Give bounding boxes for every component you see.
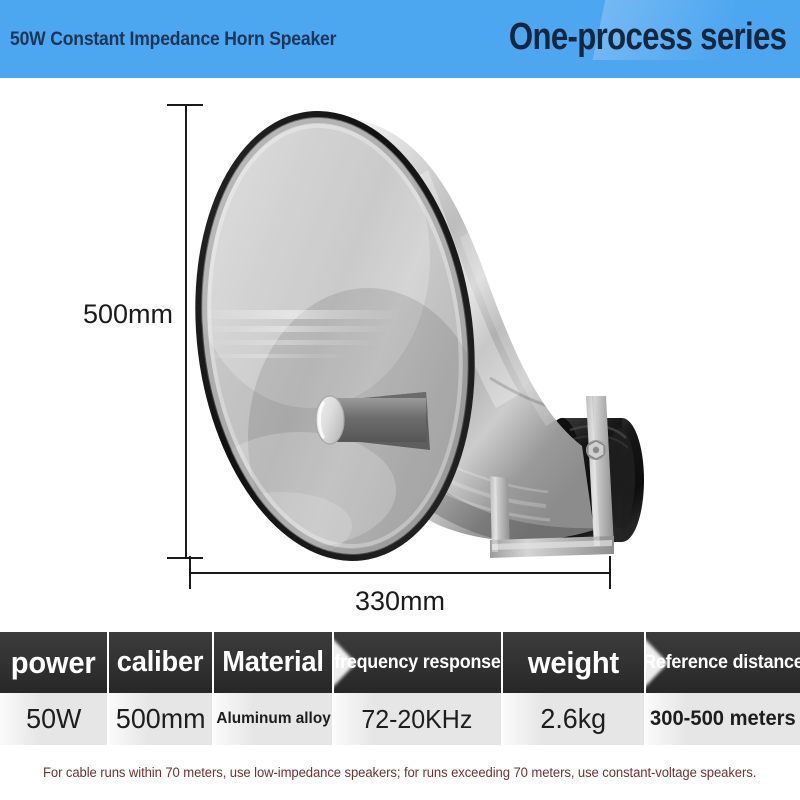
width-dimension-label-wrap: 330mm bbox=[0, 586, 800, 617]
spec-header-label: weight bbox=[528, 645, 619, 681]
specification-table: power 50W caliber 500mm Material Aluminu… bbox=[0, 632, 800, 745]
spec-value-label: 500mm bbox=[116, 703, 206, 735]
spec-header-reference-distance: Reference distance bbox=[646, 632, 800, 693]
spec-header-label: frequency response bbox=[334, 652, 500, 674]
cable-run-advisory-text: For cable runs within 70 meters, use low… bbox=[43, 765, 756, 780]
height-dimension-label: 500mm bbox=[83, 299, 173, 330]
footer-note: For cable runs within 70 meters, use low… bbox=[0, 745, 800, 800]
horn-speaker-illustration bbox=[190, 78, 660, 578]
spec-header-label: caliber bbox=[117, 646, 204, 679]
spec-value-label: 50W bbox=[26, 703, 81, 735]
spec-value-caliber: 500mm bbox=[109, 693, 213, 745]
spec-column-reference-distance: Reference distance 300-500 meters bbox=[646, 632, 800, 745]
series-title: One-process series bbox=[509, 16, 786, 59]
cell-gleam bbox=[503, 693, 543, 745]
spec-header-material: Material bbox=[214, 632, 332, 693]
spec-value-label: Aluminum alloy bbox=[216, 710, 330, 728]
spec-header-caliber: caliber bbox=[109, 632, 213, 693]
product-title: 50W Constant Impedance Horn Speaker bbox=[10, 28, 336, 51]
header-banner: 50W Constant Impedance Horn Speaker One-… bbox=[0, 0, 800, 78]
spec-header-power: power bbox=[0, 632, 107, 693]
spec-column-frequency-response: frequency response 72-20KHz bbox=[334, 632, 503, 745]
spec-value-label: 2.6kg bbox=[540, 703, 606, 735]
spec-header-frequency-response: frequency response bbox=[334, 632, 501, 693]
height-dimension-line bbox=[185, 105, 187, 558]
spec-value-power: 50W bbox=[0, 693, 107, 745]
spec-column-weight: weight 2.6kg bbox=[503, 632, 646, 745]
spec-value-material: Aluminum alloy bbox=[214, 693, 332, 745]
product-image-stage: 500mm 330mm bbox=[0, 78, 800, 625]
hex-bolt-icon bbox=[586, 440, 606, 460]
spec-header-weight: weight bbox=[503, 632, 644, 693]
product-infographic: 50W Constant Impedance Horn Speaker One-… bbox=[0, 0, 800, 800]
spec-value-reference-distance: 300-500 meters bbox=[646, 693, 800, 745]
spec-column-caliber: caliber 500mm bbox=[109, 632, 215, 745]
spec-column-power: power 50W bbox=[0, 632, 109, 745]
phase-plug bbox=[316, 392, 430, 450]
spec-value-frequency-response: 72-20KHz bbox=[334, 693, 501, 745]
spec-header-label: Reference distance bbox=[646, 652, 800, 674]
spec-value-label: 72-20KHz bbox=[362, 704, 473, 735]
spec-column-material: Material Aluminum alloy bbox=[214, 632, 334, 745]
spec-value-label: 300-500 meters bbox=[650, 707, 796, 731]
spec-value-weight: 2.6kg bbox=[503, 693, 644, 745]
width-dimension-label: 330mm bbox=[355, 586, 445, 616]
spec-header-label: power bbox=[11, 645, 96, 681]
spec-header-label: Material bbox=[222, 646, 324, 679]
